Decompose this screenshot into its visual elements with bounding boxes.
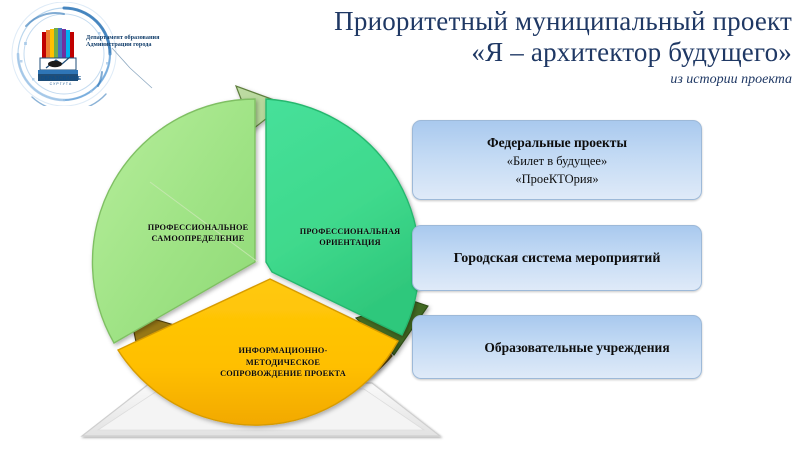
segment-label-line: САМООПРЕДЕЛЕНИЕ	[118, 233, 278, 244]
panel-heading: Федеральные проекты	[487, 133, 627, 152]
panel-line: «Билет в будущее»	[507, 152, 607, 170]
panel-federal-projects[interactable]: Федеральные проекты «Билет в будущее» «П…	[412, 120, 702, 200]
segment-label-line: ПРОФЕССИОНАЛЬНОЕ	[118, 222, 278, 233]
slide-canvas: Департамент образования Администрации го…	[0, 0, 800, 450]
panel-heading: Городская система мероприятий	[454, 249, 661, 268]
panel-city-events-system[interactable]: Городская система мероприятий	[412, 225, 702, 291]
panel-line: «ПроеКТОрия»	[515, 170, 598, 188]
segment-label-line: МЕТОДИЧЕСКОЕ	[190, 357, 376, 369]
segment-label-self-determination: ПРОФЕССИОНАЛЬНОЕ САМООПРЕДЕЛЕНИЕ	[118, 222, 278, 244]
panel-heading: Образовательные учреждения	[484, 338, 669, 357]
segment-label-line: ИНФОРМАЦИОННО-	[190, 345, 376, 357]
segment-label-methodical-support: ИНФОРМАЦИОННО- МЕТОДИЧЕСКОЕ СОПРОВОЖДЕНИ…	[190, 345, 376, 380]
segment-label-line: ОРИЕНТАЦИЯ	[288, 237, 412, 248]
segment-label-line: СОПРОВОЖДЕНИЕ ПРОЕКТА	[190, 368, 376, 380]
panel-educational-institutions[interactable]: Образовательные учреждения	[412, 315, 702, 379]
segment-label-line: ПРОФЕССИОНАЛЬНАЯ	[288, 226, 412, 237]
segment-label-career-guidance: ПРОФЕССИОНАЛЬНАЯ ОРИЕНТАЦИЯ	[288, 226, 412, 248]
